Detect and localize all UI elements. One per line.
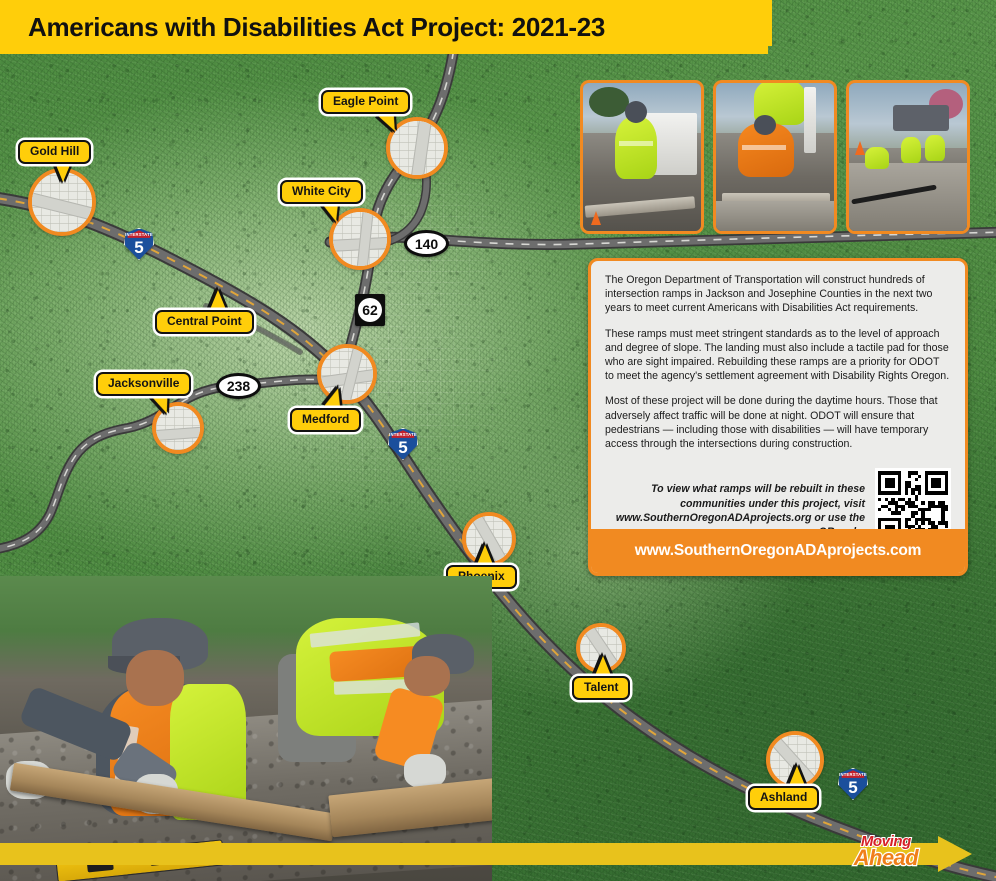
photo-worker-placing-concrete	[580, 80, 704, 234]
ada-project-poster: .rd-case { stroke:#3a3a3a; fill:none; st…	[0, 0, 996, 881]
callout-tail	[476, 545, 494, 567]
interstate-number: 5	[838, 779, 868, 796]
interstate-word: INTERSTATE	[388, 432, 418, 437]
callout-medford[interactable]: Medford	[290, 408, 361, 432]
shield-or-140: 140	[404, 230, 449, 257]
worker-figure	[615, 117, 657, 179]
worker-figure-c	[925, 135, 945, 161]
shield-or-238: 238	[216, 373, 261, 399]
info-paragraph-1: The Oregon Department of Transportation …	[605, 273, 951, 316]
arrow-shaft	[0, 843, 942, 865]
callout-tail	[594, 656, 612, 678]
photo-worker-setting-curb-form	[713, 80, 837, 234]
worker-head	[754, 115, 776, 135]
moving-ahead-logo: Moving Ahead	[854, 834, 918, 869]
interstate-word: INTERSTATE	[838, 772, 868, 777]
city-label-medford: Medford	[290, 408, 361, 432]
info-paragraph-3: Most of these project will be done durin…	[605, 394, 951, 451]
project-url: www.SouthernOregonADAprojects.com	[635, 542, 922, 560]
callout-ashland[interactable]: Ashland	[748, 786, 819, 810]
callout-gold-hill[interactable]: Gold Hill	[18, 140, 91, 164]
city-label-jacksonville: Jacksonville	[96, 372, 191, 396]
shield-i5-ashland: INTERSTATE 5	[838, 768, 868, 800]
city-label-gold-hill: Gold Hill	[18, 140, 91, 164]
sign-post	[804, 87, 816, 153]
route-oval-140: 140	[404, 230, 449, 257]
tree-icon	[589, 87, 629, 117]
callout-eagle-point[interactable]: Eagle Point	[321, 90, 410, 114]
shield-i5-north: INTERSTATE 5	[124, 228, 154, 260]
main-construction-photo	[0, 576, 492, 881]
callout-central-point[interactable]: Central Point	[155, 310, 254, 334]
callout-jacksonville[interactable]: Jacksonville	[96, 372, 191, 396]
worker-right-face	[404, 656, 450, 696]
photo-strip	[580, 80, 970, 234]
hi-vis-stripe	[619, 141, 653, 146]
callout-white-city[interactable]: White City	[280, 180, 363, 204]
route-number: 238	[227, 378, 250, 394]
route-oval-238: 238	[216, 373, 261, 399]
info-text-block: The Oregon Department of Transportation …	[591, 261, 965, 466]
callout-tail	[209, 290, 227, 312]
city-label-ashland: Ashland	[748, 786, 819, 810]
route-square-62: 62	[355, 294, 385, 326]
worker-left-face	[126, 650, 184, 706]
interstate-word: INTERSTATE	[124, 232, 154, 237]
worker-figure-b	[901, 137, 921, 163]
logo-line-2: Ahead	[854, 847, 918, 869]
title-banner: Americans with Disabilities Act Project:…	[0, 0, 768, 54]
arrow-head-icon	[938, 836, 972, 872]
photo-crew-pouring-sidewalk-ramp	[846, 80, 970, 234]
info-panel: The Oregon Department of Transportation …	[588, 258, 968, 576]
page-title: Americans with Disabilities Act Project:…	[28, 12, 605, 43]
title-banner-tab	[758, 0, 772, 46]
interstate-number: 5	[388, 439, 418, 456]
route-circle: 62	[358, 298, 382, 322]
url-bar[interactable]: www.SouthernOregonADAprojects.com	[591, 529, 965, 573]
traffic-cone-icon	[591, 211, 601, 225]
city-label-central-point: Central Point	[155, 310, 254, 334]
route-number: 140	[415, 236, 438, 252]
interstate-number: 5	[124, 239, 154, 256]
shield-or-62: 62	[355, 294, 385, 326]
hi-vis-stripe	[742, 145, 786, 150]
callout-talent[interactable]: Talent	[572, 676, 630, 700]
city-label-talent: Talent	[572, 676, 630, 700]
shield-i5-medford: INTERSTATE 5	[388, 428, 418, 460]
photo-concrete	[716, 201, 834, 231]
city-label-eagle-point: Eagle Point	[321, 90, 410, 114]
callout-tail	[788, 766, 806, 788]
city-label-white-city: White City	[280, 180, 363, 204]
worker-figure-a	[865, 147, 889, 169]
concrete-truck	[893, 105, 949, 131]
moving-ahead-arrow-bar	[0, 843, 996, 865]
info-paragraph-2: These ramps must meet stringent standard…	[605, 327, 951, 384]
worker-head	[625, 101, 647, 123]
traffic-cone-icon	[855, 141, 865, 155]
route-number: 62	[362, 302, 378, 318]
